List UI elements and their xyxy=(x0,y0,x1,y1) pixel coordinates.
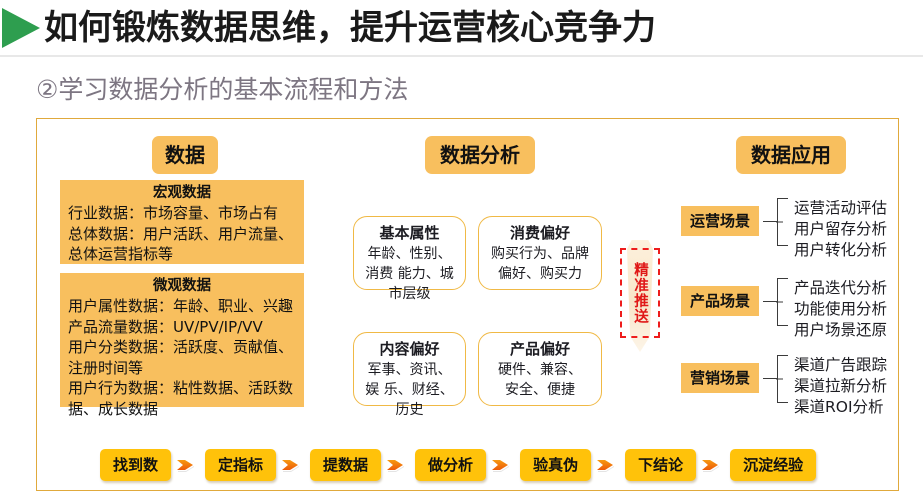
data-block-title: 微观数据 xyxy=(68,276,296,296)
scene-label-operations: 运营场景 xyxy=(681,206,759,236)
analysis-card-title: 基本属性 xyxy=(354,222,465,244)
column-header-analysis: 数据分析 xyxy=(425,136,535,174)
analysis-card-body: 硬件、兼容、 安全、便捷 xyxy=(479,360,601,400)
scene-item-list-operations: 运营活动评估 用户留存分析 用户转化分析 xyxy=(794,198,887,261)
chevron-right-icon xyxy=(696,454,730,476)
slide-subtitle: ②学习数据分析的基本流程和方法 xyxy=(36,70,408,106)
data-block-macro: 宏观数据 行业数据：市场容量、市场占有 总体数据：用户活跃、用户流量、 总体运营… xyxy=(60,180,304,264)
scene-item: 渠道拉新分析 xyxy=(794,376,887,397)
connector-line xyxy=(763,378,777,379)
brace-icon xyxy=(777,355,788,403)
data-block-line: 用户分类数据：活跃度、贡献值、 xyxy=(68,337,296,358)
analysis-card-body: 购买行为、品牌 偏好、购买力 xyxy=(479,244,601,284)
data-block-line: 注册时间等 xyxy=(68,358,296,379)
brace-icon xyxy=(777,198,788,246)
scene-item: 产品迭代分析 xyxy=(794,278,887,299)
flow-step[interactable]: 做分析 xyxy=(415,449,486,481)
analysis-card-basic-attributes: 基本属性 年龄、性别、消费 能力、城市层级 xyxy=(353,216,466,290)
column-header-data: 数据 xyxy=(152,136,218,174)
flow-step[interactable]: 找到数 xyxy=(100,449,171,481)
green-triangle-icon xyxy=(2,8,40,48)
analysis-card-consumption-preference: 消费偏好 购买行为、品牌 偏好、购买力 xyxy=(478,216,602,290)
scene-item-list-marketing: 渠道广告跟踪 渠道拉新分析 渠道ROI分析 xyxy=(794,355,887,418)
precise-push-label: 精准推送 xyxy=(628,252,652,334)
scene-item: 用户留存分析 xyxy=(794,219,887,240)
scene-item: 用户转化分析 xyxy=(794,240,887,261)
scene-label-marketing: 营销场景 xyxy=(681,363,759,393)
process-flow-row: 找到数 定指标 提数据 做分析 验真伪 xyxy=(100,450,860,480)
column-header-apply: 数据应用 xyxy=(736,136,846,174)
data-block-line: 总体数据：用户活跃、用户流量、 xyxy=(68,224,296,245)
flow-step[interactable]: 验真伪 xyxy=(520,449,591,481)
flow-step[interactable]: 沉淀经验 xyxy=(730,449,816,481)
analysis-card-title: 产品偏好 xyxy=(479,338,601,360)
analysis-card-body: 年龄、性别、消费 能力、城市层级 xyxy=(354,244,465,304)
data-block-line: 用户属性数据：年龄、职业、兴趣 xyxy=(68,296,296,317)
page-title: 如何锻炼数据思维，提升运营核心竞争力 xyxy=(44,2,656,54)
data-block-line: 用户行为数据：粘性数据、活跃数 xyxy=(68,378,296,399)
data-block-micro: 微观数据 用户属性数据：年龄、职业、兴趣 产品流量数据：UV/PV/IP/VV … xyxy=(60,273,304,407)
analysis-card-title: 内容偏好 xyxy=(354,338,465,360)
analysis-card-body: 军事、资讯、娱 乐、财经、历史 xyxy=(354,360,465,420)
data-block-line: 总体运营指标等 xyxy=(68,244,296,265)
chevron-right-icon xyxy=(171,454,205,476)
scene-item: 功能使用分析 xyxy=(794,299,887,320)
chevron-right-icon xyxy=(486,454,520,476)
data-block-line: 产品流量数据：UV/PV/IP/VV xyxy=(68,317,296,338)
scene-item: 渠道ROI分析 xyxy=(794,397,887,418)
analysis-card-title: 消费偏好 xyxy=(479,222,601,244)
chevron-right-icon xyxy=(381,454,415,476)
analysis-card-content-preference: 内容偏好 军事、资讯、娱 乐、财经、历史 xyxy=(353,332,466,406)
data-block-title: 宏观数据 xyxy=(68,183,296,203)
connector-line xyxy=(763,221,777,222)
slide-header: 如何锻炼数据思维，提升运营核心竞争力 xyxy=(0,0,923,57)
chevron-right-icon xyxy=(276,454,310,476)
scene-item: 渠道广告跟踪 xyxy=(794,355,887,376)
brace-icon xyxy=(777,278,788,326)
flow-step[interactable]: 定指标 xyxy=(205,449,276,481)
analysis-card-product-preference: 产品偏好 硬件、兼容、 安全、便捷 xyxy=(478,332,602,406)
scene-item: 用户场景还原 xyxy=(794,320,887,341)
scene-label-product: 产品场景 xyxy=(681,286,759,316)
data-block-line: 行业数据：市场容量、市场占有 xyxy=(68,203,296,224)
chevron-right-icon xyxy=(591,454,625,476)
flow-step[interactable]: 下结论 xyxy=(625,449,696,481)
flow-step[interactable]: 提数据 xyxy=(310,449,381,481)
scene-item: 运营活动评估 xyxy=(794,198,887,219)
connector-line xyxy=(763,301,777,302)
scene-item-list-product: 产品迭代分析 功能使用分析 用户场景还原 xyxy=(794,278,887,341)
data-block-line: 据、成长数据 xyxy=(68,399,296,420)
